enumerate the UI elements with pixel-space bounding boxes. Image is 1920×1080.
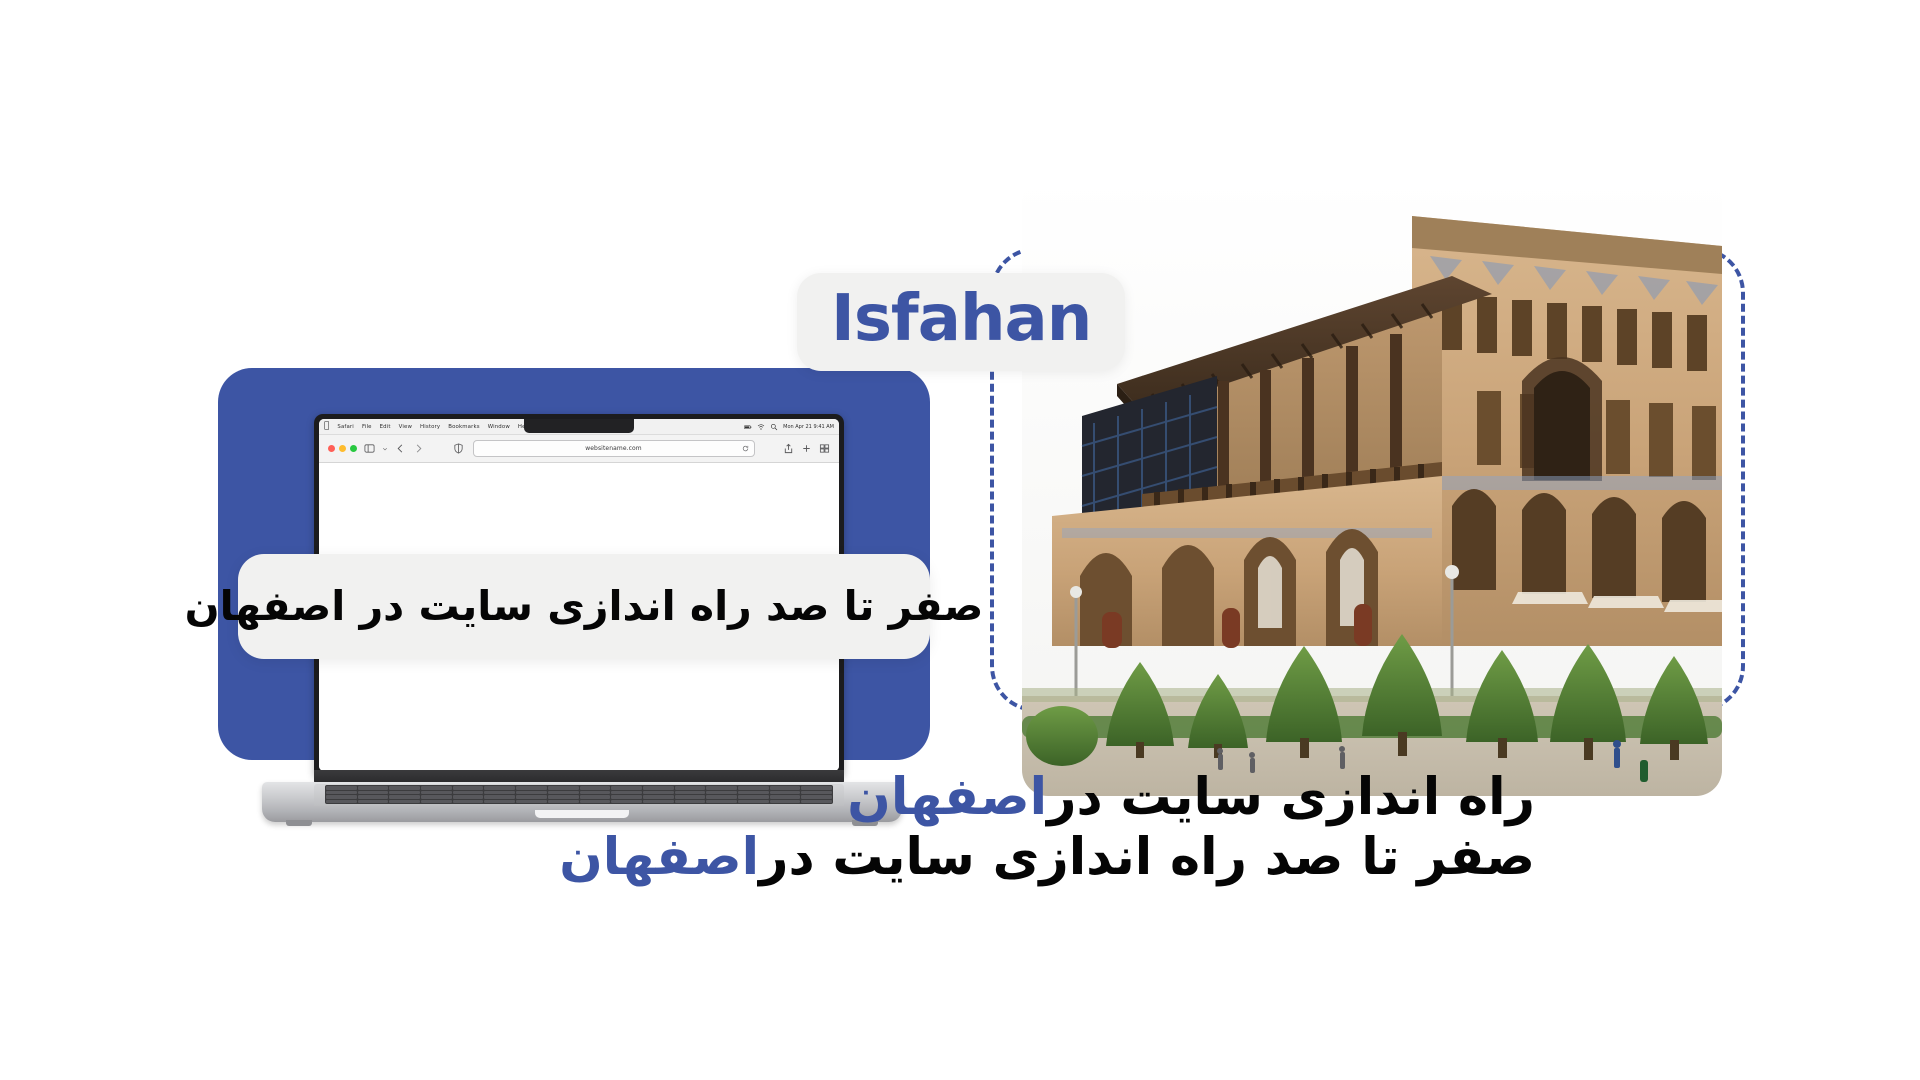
menu-item-view[interactable]: View	[399, 424, 412, 430]
forward-arrow-icon[interactable]	[413, 443, 424, 454]
apple-logo-icon[interactable]: 	[324, 422, 329, 431]
heading-1-plain: راه اندازی سایت در	[1047, 768, 1535, 827]
banner-canvas:  Safari File Edit View History Bookmark…	[0, 0, 1920, 1080]
sidebar-icon[interactable]	[364, 443, 375, 454]
close-window-button[interactable]	[328, 445, 335, 452]
chevron-down-icon[interactable]	[382, 446, 388, 452]
battery-icon[interactable]	[744, 423, 752, 431]
address-area: websitename.com	[431, 440, 776, 457]
menubar-status-area: Mon Apr 21 9:41 AM	[744, 419, 834, 434]
menu-item-file[interactable]: File	[362, 424, 372, 430]
heading-2-highlight: اصفهان	[559, 828, 759, 887]
minimize-window-button[interactable]	[339, 445, 346, 452]
wifi-icon[interactable]	[757, 423, 765, 431]
window-traffic-lights	[328, 445, 357, 452]
maximize-window-button[interactable]	[350, 445, 357, 452]
privacy-shield-icon[interactable]	[453, 443, 464, 454]
bottom-headings: راه اندازی سایت دراصفهان صفر تا صد راه ا…	[559, 768, 1535, 888]
menu-item-safari[interactable]: Safari	[337, 424, 354, 430]
menu-item-window[interactable]: Window	[488, 424, 510, 430]
reload-icon[interactable]	[742, 445, 749, 452]
heading-2-plain: صفر تا صد راه اندازی سایت در	[759, 828, 1535, 887]
heading-line-1: راه اندازی سایت دراصفهان	[559, 768, 1535, 828]
url-address-bar[interactable]: websitename.com	[473, 440, 755, 457]
menu-item-edit[interactable]: Edit	[380, 424, 391, 430]
url-text[interactable]: websitename.com	[585, 445, 641, 452]
menubar-items: Safari File Edit View History Bookmarks …	[337, 424, 530, 430]
menu-item-bookmarks[interactable]: Bookmarks	[448, 424, 479, 430]
laptop-foot-left	[286, 820, 312, 826]
menubar-clock[interactable]: Mon Apr 21 9:41 AM	[783, 424, 834, 430]
back-arrow-icon[interactable]	[395, 443, 406, 454]
macos-menubar:  Safari File Edit View History Bookmark…	[319, 419, 839, 435]
safari-toolbar: websitename.com	[319, 435, 839, 463]
plus-icon[interactable]	[801, 443, 812, 454]
ali-qapu-palace-photo	[1022, 176, 1722, 796]
menu-item-history[interactable]: History	[420, 424, 440, 430]
heading-line-2: صفر تا صد راه اندازی سایت دراصفهان	[559, 828, 1535, 888]
city-name-badge: Isfahan	[797, 273, 1125, 371]
toolbar-right-actions	[783, 443, 830, 454]
screen-caption-text: صفر تا صد راه اندازی سایت در اصفهان	[185, 586, 984, 627]
share-icon[interactable]	[783, 443, 794, 454]
search-icon[interactable]	[770, 423, 778, 431]
screen-caption-pill: صفر تا صد راه اندازی سایت در اصفهان	[238, 554, 930, 659]
city-name-label: Isfahan	[831, 287, 1091, 351]
show-all-tabs-icon[interactable]	[819, 443, 830, 454]
heading-1-highlight: اصفهان	[847, 768, 1047, 827]
display-notch	[524, 419, 634, 433]
